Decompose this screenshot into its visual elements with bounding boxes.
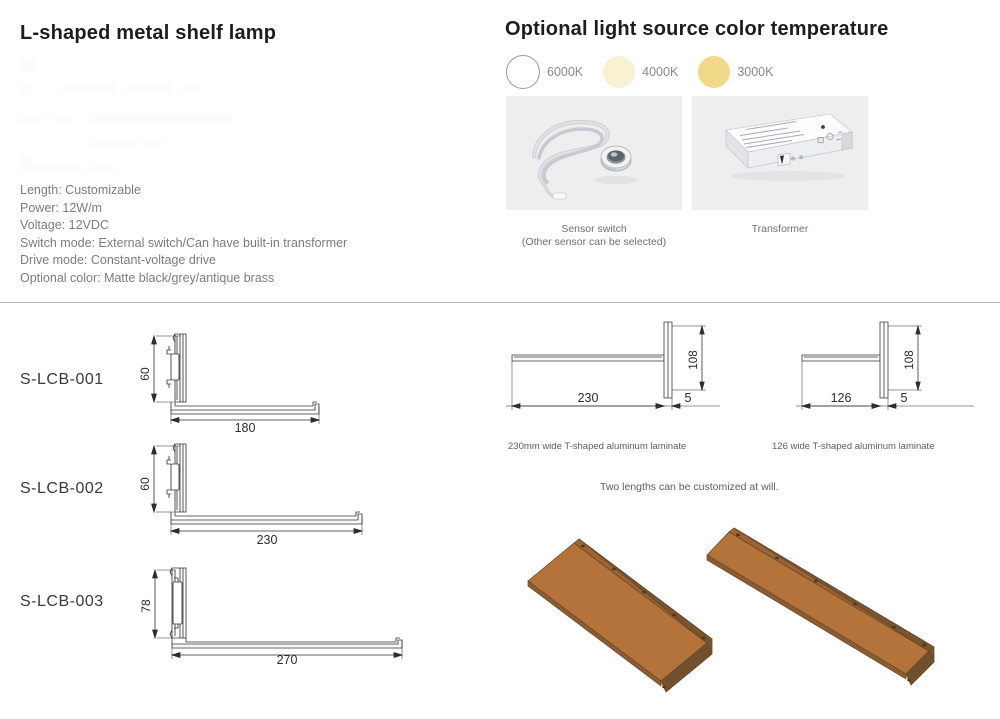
color-temperature-options: 6000K 4000K 3000K <box>506 55 793 89</box>
cct-option-3000k[interactable]: 3000K <box>698 56 773 88</box>
dim-height-002: 60 <box>140 477 152 491</box>
model-label-s-lcb-001: S-LCB-001 <box>20 371 104 389</box>
dim-height-001: 60 <box>140 367 152 381</box>
product-spec-sheet: L-shaped metal shelf lamp Length: Custom… <box>0 0 1000 719</box>
shelf-render-left <box>528 539 712 692</box>
spec-item-optional-color: Optional color: Matte black/grey/antique… <box>20 270 347 288</box>
section-divider <box>0 302 1000 303</box>
dim-height-t230: 108 <box>688 350 700 369</box>
cad-drawing-t-laminate-126: 108 126 5 <box>762 316 992 436</box>
cad-drawing-s-lcb-003: 78 270 <box>140 552 460 664</box>
caption-t-laminate-126: 126 wide T-shaped aluminum laminate <box>772 441 934 452</box>
cad-drawing-s-lcb-002: 60 230 <box>140 438 440 546</box>
circle-swatch-icon-3000k <box>698 56 730 88</box>
dim-width-t126: 126 <box>831 391 852 405</box>
caption-sensor-line2: (Other sensor can be selected) <box>506 236 682 249</box>
dim-thickness-t126: 5 <box>901 391 908 405</box>
model-label-s-lcb-002: S-LCB-002 <box>20 480 104 498</box>
caption-sensor-switch: Sensor switch (Other sensor can be selec… <box>506 223 682 249</box>
cct-option-4000k[interactable]: 4000K <box>603 56 678 88</box>
spec-item-drive-mode: Drive mode: Constant-voltage drive <box>20 252 347 270</box>
dim-length-003: 270 <box>277 653 298 664</box>
circle-swatch-icon-6000k <box>506 55 540 89</box>
caption-transformer: Transformer <box>692 223 868 236</box>
spec-item-length: Length: Customizable <box>20 182 347 200</box>
photo-transformer <box>692 96 868 210</box>
spec-item-power: Power: 12W/m <box>20 200 347 218</box>
photo-sensor-switch <box>506 96 682 210</box>
page-title-left: L-shaped metal shelf lamp <box>20 22 276 45</box>
model-label-s-lcb-003: S-LCB-003 <box>20 593 104 611</box>
spec-item-switch-mode: Switch mode: External switch/Can have bu… <box>20 235 347 253</box>
faint-ghost-text-block <box>20 58 320 173</box>
spec-item-voltage: Voltage: 12VDC <box>20 217 347 235</box>
isometric-shelf-renders <box>492 504 1000 719</box>
cad-drawing-t-laminate-230: 108 230 5 <box>498 316 728 436</box>
caption-transformer-line1: Transformer <box>692 223 868 236</box>
shelf-render-right <box>707 528 934 685</box>
dim-length-002: 230 <box>257 533 278 546</box>
cct-label-4000k: 4000K <box>642 65 678 79</box>
cct-option-6000k[interactable]: 6000K <box>506 55 583 89</box>
circle-swatch-icon-4000k <box>603 56 635 88</box>
note-custom-lengths: Two lengths can be customized at will. <box>600 481 779 493</box>
page-title-right: Optional light source color temperature <box>505 18 888 41</box>
dim-height-t126: 108 <box>904 350 916 369</box>
dim-width-t230: 230 <box>578 391 599 405</box>
dim-length-001: 180 <box>235 421 256 433</box>
caption-t-laminate-230: 230mm wide T-shaped aluminum laminate <box>508 441 686 452</box>
dim-height-003: 78 <box>140 599 153 613</box>
spec-list: Length: Customizable Power: 12W/m Voltag… <box>20 182 347 287</box>
cad-drawing-s-lcb-001: 60 180 <box>140 328 440 433</box>
dim-thickness-t230: 5 <box>685 391 692 405</box>
cct-label-6000k: 6000K <box>547 65 583 79</box>
caption-sensor-line1: Sensor switch <box>506 223 682 236</box>
cct-label-3000k: 3000K <box>737 65 773 79</box>
